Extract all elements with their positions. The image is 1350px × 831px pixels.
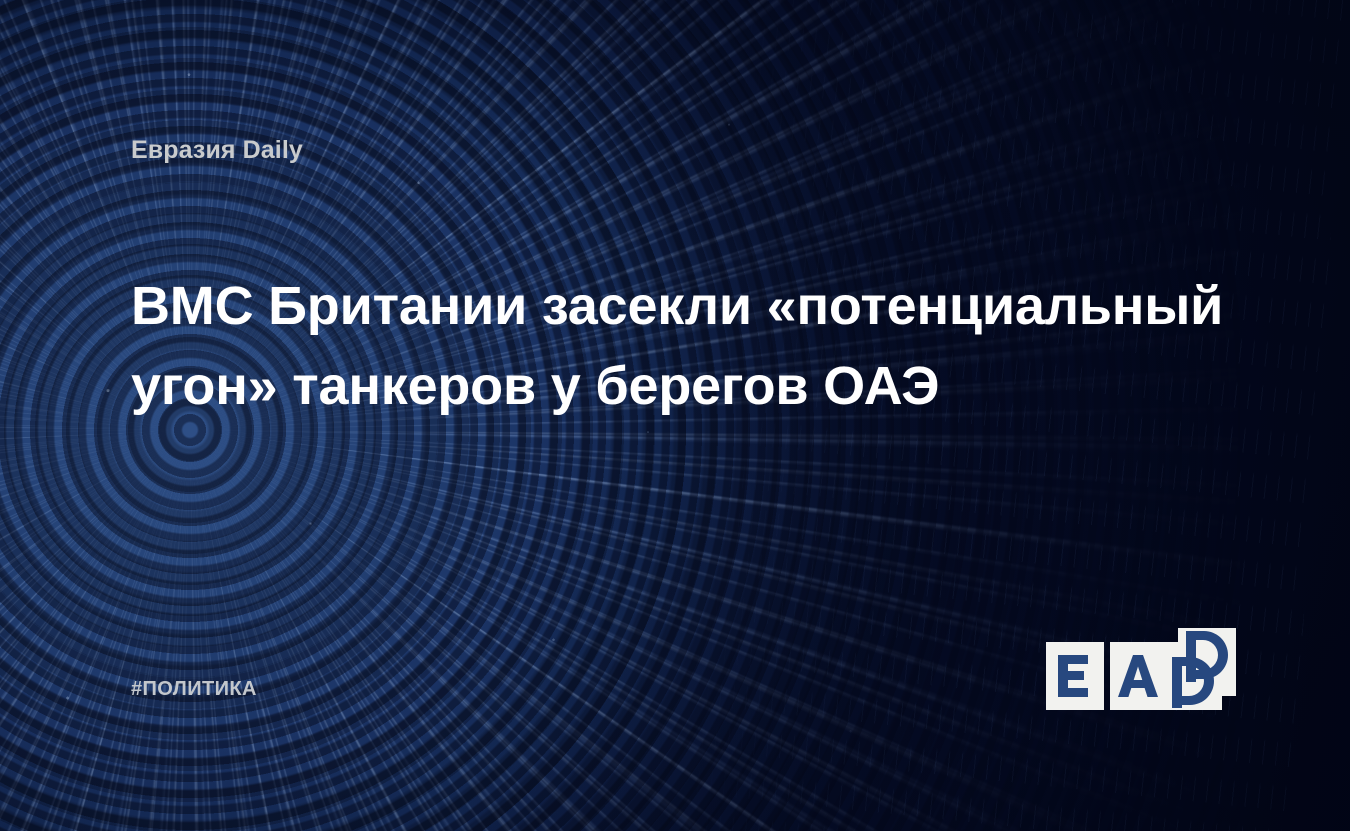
- category-tag[interactable]: #ПОЛИТИКА: [131, 678, 257, 701]
- card-content: Евразия Daily ВМС Британии засекли «поте…: [0, 0, 1350, 831]
- site-brand-label: Евразия Daily: [131, 136, 303, 165]
- news-card: Евразия Daily ВМС Британии засекли «поте…: [0, 0, 1350, 831]
- logo-letterforms: [1046, 628, 1222, 710]
- ead-logo[interactable]: [1046, 628, 1222, 710]
- logo-letter-e-glyph: [1058, 655, 1088, 697]
- page-title: ВМС Британии засекли «потенциальный угон…: [131, 266, 1241, 426]
- logo-letter-d-glyph: [1172, 631, 1228, 708]
- logo-letter-a-glyph: [1118, 655, 1158, 697]
